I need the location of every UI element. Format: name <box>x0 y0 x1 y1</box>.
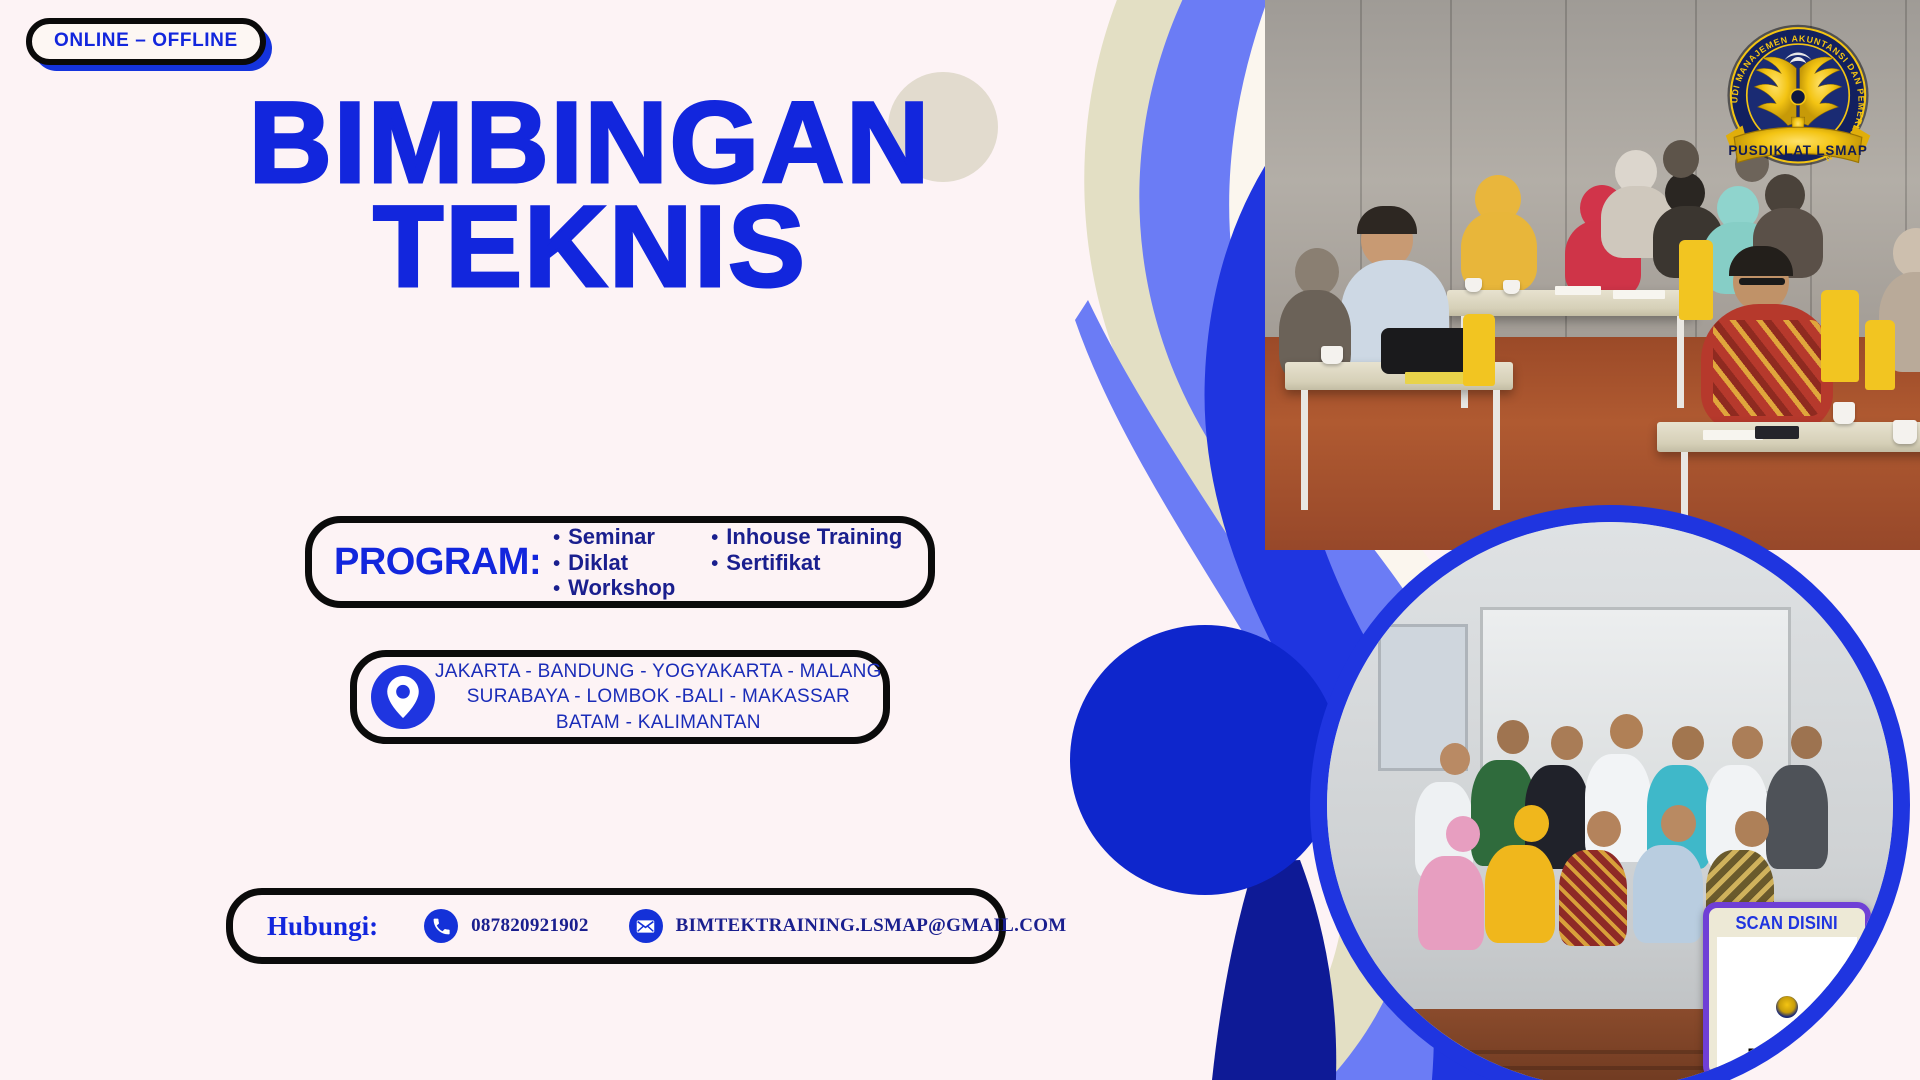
program-item: Sertifikat <box>711 551 902 576</box>
map-pin-icon <box>371 665 435 729</box>
accent-circle <box>1070 625 1340 895</box>
contact-phone-item[interactable]: 087820921902 <box>424 909 589 943</box>
locations-list: JAKARTA - BANDUNG - YOGYAKARTA - MALANG … <box>435 659 892 734</box>
page-title: BIMBINGAN TEKNIS <box>150 92 1030 299</box>
contact-panel: Hubungi: 087820921902 BIMTEKTRAINING.LSM… <box>226 888 1006 964</box>
program-item: Seminar <box>553 525 675 550</box>
program-item: Workshop <box>553 576 675 601</box>
qr-card-title: SCAN DISINI <box>1736 913 1838 934</box>
contact-email-item[interactable]: BIMTEKTRAINING.LSMAP@GMAIL.COM <box>629 909 1067 943</box>
online-offline-label: ONLINE – OFFLINE <box>54 30 238 51</box>
program-column-1: Seminar Diklat Workshop <box>553 525 675 601</box>
program-panel: PROGRAM: Seminar Diklat Workshop Inhouse… <box>305 516 935 608</box>
title-line-1: BIMBINGAN <box>150 92 1030 196</box>
phone-icon <box>424 909 458 943</box>
contact-label: Hubungi: <box>267 911 378 942</box>
location-line: JAKARTA - BANDUNG - YOGYAKARTA - MALANG <box>435 659 882 684</box>
right-decoration-panel: LEMBAGA STUDI MANAJEMEN AKUNTANSI DAN PE… <box>1000 0 1920 1080</box>
qr-code[interactable] <box>1717 937 1857 1077</box>
locations-panel: JAKARTA - BANDUNG - YOGYAKARTA - MALANG … <box>350 650 890 744</box>
online-offline-badge[interactable]: ONLINE – OFFLINE <box>26 18 266 65</box>
qr-center-logo-icon <box>1774 994 1800 1020</box>
group-photo-circle: SCAN DISINI <box>1310 505 1910 1080</box>
title-line-2: TEKNIS <box>150 196 1030 300</box>
envelope-icon <box>629 909 663 943</box>
program-label: PROGRAM: <box>334 541 541 584</box>
contact-email-address: BIMTEKTRAINING.LSMAP@GMAIL.COM <box>676 915 1067 937</box>
program-item: Inhouse Training <box>711 525 902 550</box>
contact-phone-number: 087820921902 <box>471 915 589 937</box>
pusdiklat-lsmap-logo: LEMBAGA STUDI MANAJEMEN AKUNTANSI DAN PE… <box>1714 18 1882 186</box>
qr-scan-card[interactable]: SCAN DISINI <box>1703 902 1871 1080</box>
program-item: Diklat <box>553 551 675 576</box>
location-line: BATAM - KALIMANTAN <box>435 710 882 735</box>
swirl-navy-tail <box>1210 860 1336 1080</box>
logo-ribbon-text: PUSDIKLAT LSMAP <box>1728 143 1867 158</box>
location-line: SURABAYA - LOMBOK -BALI - MAKASSAR <box>435 684 882 709</box>
program-column-2: Inhouse Training Sertifikat <box>711 525 902 575</box>
